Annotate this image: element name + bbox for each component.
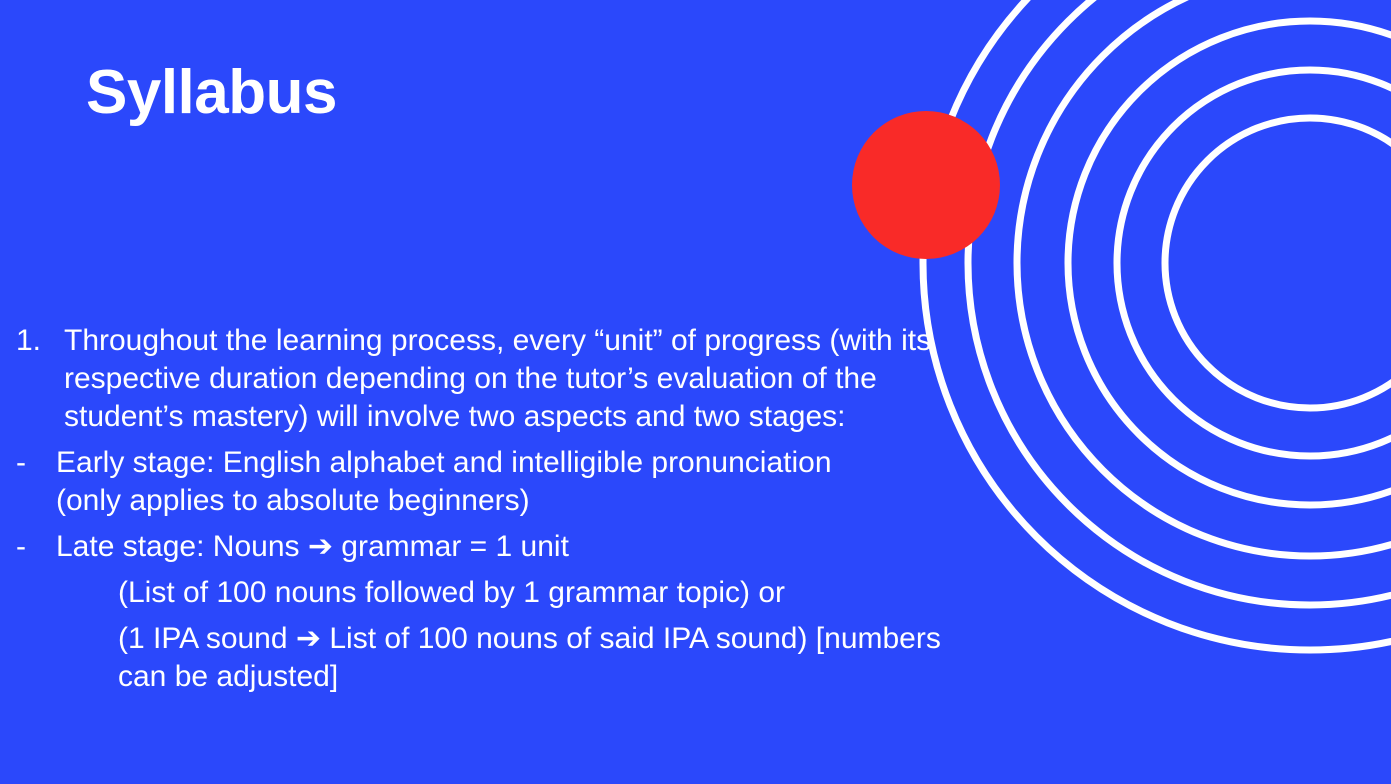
- slide-canvas: Syllabus 1. Throughout the learning proc…: [0, 0, 1391, 784]
- list-marker: -: [16, 444, 56, 482]
- list-item-text: Late stage: Nouns ➔ grammar = 1 unit: [56, 528, 876, 566]
- sub-line: (1 IPA sound ➔ List of 100 nouns of said…: [0, 620, 980, 696]
- ring-2: [1068, 21, 1391, 505]
- list-marker: 1.: [16, 322, 64, 360]
- page-title: Syllabus: [86, 62, 337, 124]
- list-item-text: Early stage: English alphabet and intell…: [56, 444, 876, 520]
- slide-body: 1. Throughout the learning process, ever…: [0, 322, 980, 704]
- ring-0: [1165, 118, 1391, 408]
- list-item: - Late stage: Nouns ➔ grammar = 1 unit: [0, 528, 980, 566]
- list-marker: -: [16, 528, 56, 566]
- red-circle-accent: [852, 111, 1000, 259]
- ring-1: [1117, 70, 1391, 456]
- ring-5: [923, 0, 1391, 650]
- list-item: 1. Throughout the learning process, ever…: [0, 322, 980, 436]
- list-item-text: Throughout the learning process, every “…: [64, 322, 954, 436]
- sub-line: (List of 100 nouns followed by 1 grammar…: [0, 574, 980, 612]
- concentric-rings-group: [923, 0, 1391, 650]
- list-item: - Early stage: English alphabet and inte…: [0, 444, 980, 520]
- ring-3: [1017, 0, 1391, 556]
- ring-4: [968, 0, 1391, 605]
